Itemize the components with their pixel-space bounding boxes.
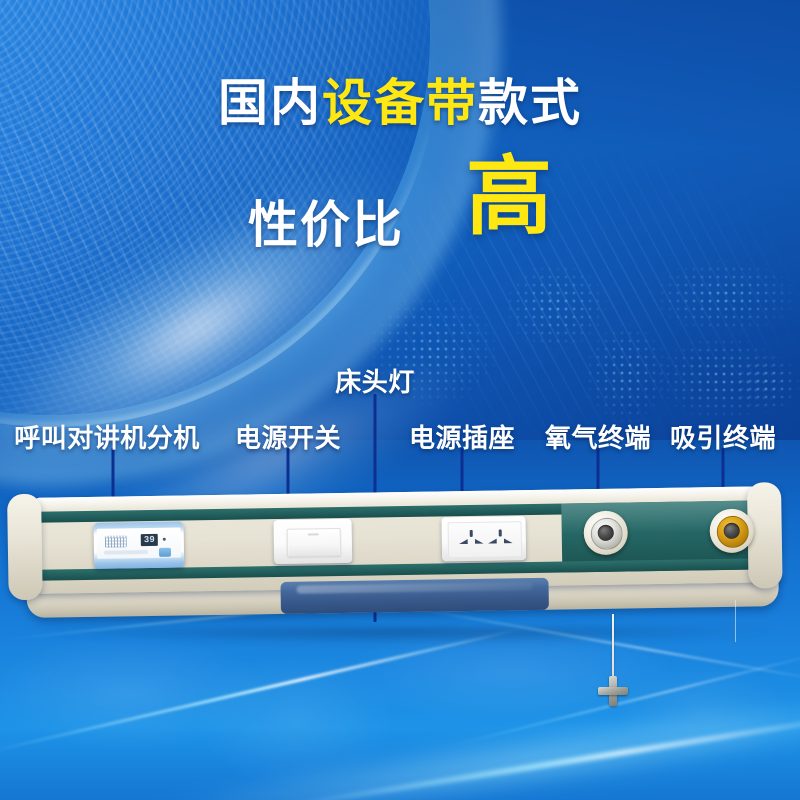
callout-label-nurse-call-intercom: 呼叫对讲机分机 — [14, 418, 200, 455]
speaker-grille-icon — [105, 535, 127, 547]
callout-label-suction-terminal: 吸引终端 — [670, 418, 776, 455]
panel-body: 39 — [21, 486, 783, 610]
socket-pin-icon — [488, 539, 497, 544]
bed-lamp-lens[interactable] — [280, 578, 548, 614]
callout-layer: 呼叫对讲机分机 电源开关 床头灯 电源插座 氧气终端 吸引终端 — [0, 0, 800, 800]
rocker-switch-paddle[interactable] — [287, 528, 341, 557]
intercom-label-slot — [104, 550, 148, 555]
nurse-call-intercom-device[interactable]: 39 — [94, 521, 185, 568]
socket-pin-icon — [504, 538, 513, 543]
socket-pin-icon — [459, 539, 468, 544]
panel-end-cap-left — [7, 494, 43, 601]
callout-label-power-socket: 电源插座 — [409, 418, 515, 455]
socket-pin-icon — [475, 539, 484, 544]
cord-handle-horizontal-arm — [598, 687, 628, 695]
status-led-icon — [163, 538, 166, 541]
power-switch-device[interactable] — [273, 519, 352, 564]
bed-head-unit: 39 — [22, 498, 782, 638]
intercom-call-button[interactable] — [159, 548, 171, 557]
poster-canvas: 国内设备带款式 性价比高 呼叫对讲机分机 电源开关 床头灯 电源插座 氧气终端 … — [0, 0, 800, 800]
callout-label-oxygen-terminal: 氧气终端 — [545, 418, 651, 455]
intercom-faceplate: 39 — [97, 528, 181, 559]
socket-outlet-right[interactable] — [487, 529, 515, 549]
power-socket-device[interactable] — [441, 516, 526, 561]
socket-pin-icon — [470, 530, 473, 537]
callout-label-power-switch: 电源开关 — [235, 418, 341, 455]
socket-pin-icon — [499, 529, 502, 536]
socket-outlet-left[interactable] — [458, 530, 486, 550]
socket-faceplate — [448, 521, 523, 558]
suction-terminal-cord — [735, 600, 736, 642]
intercom-display: 39 — [141, 534, 158, 546]
pull-cord-handle[interactable] — [598, 676, 628, 706]
callout-label-bed-lamp: 床头灯 — [335, 362, 415, 399]
